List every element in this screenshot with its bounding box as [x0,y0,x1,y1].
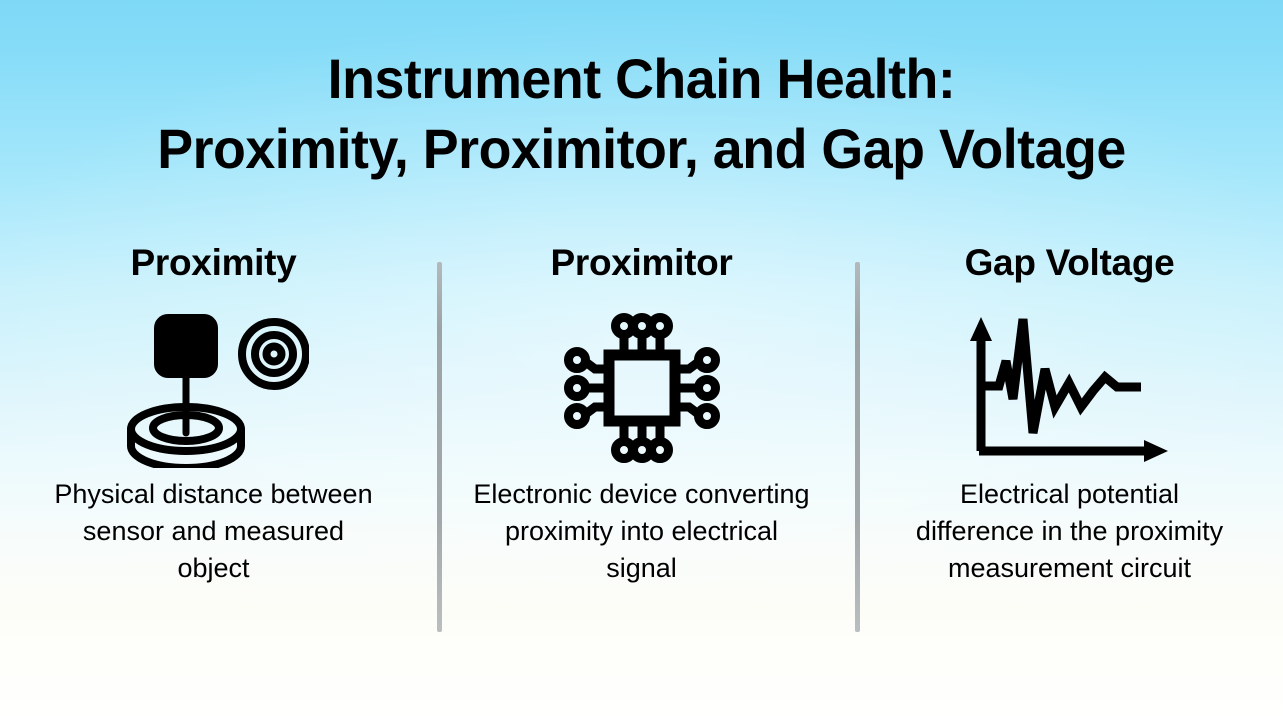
column-heading-proximitor: Proximitor [550,240,732,286]
title-line-1: Instrument Chain Health: [26,44,1258,114]
column-gap-voltage: Gap Voltage Electrical potent [856,240,1283,587]
proximity-sensor-icon [119,300,309,476]
column-caption-gap-voltage: Electrical potential difference in the p… [910,476,1230,587]
title-line-2: Proximity, Proximitor, and Gap Voltage [26,114,1258,184]
concept-columns: Proximity [0,240,1283,640]
column-caption-proximity: Physical distance between sensor and mea… [44,476,384,587]
column-caption-proximitor: Electronic device converting proximity i… [467,476,817,587]
column-heading-proximity: Proximity [131,240,297,286]
column-proximitor: Proximitor [428,240,855,587]
page-title: Instrument Chain Health: Proximity, Prox… [0,44,1283,184]
microchip-icon [562,300,722,476]
column-proximity: Proximity [0,240,427,587]
column-heading-gap-voltage: Gap Voltage [965,240,1175,286]
waveform-chart-icon [965,300,1175,476]
slide-canvas: Instrument Chain Health: Proximity, Prox… [0,0,1283,722]
